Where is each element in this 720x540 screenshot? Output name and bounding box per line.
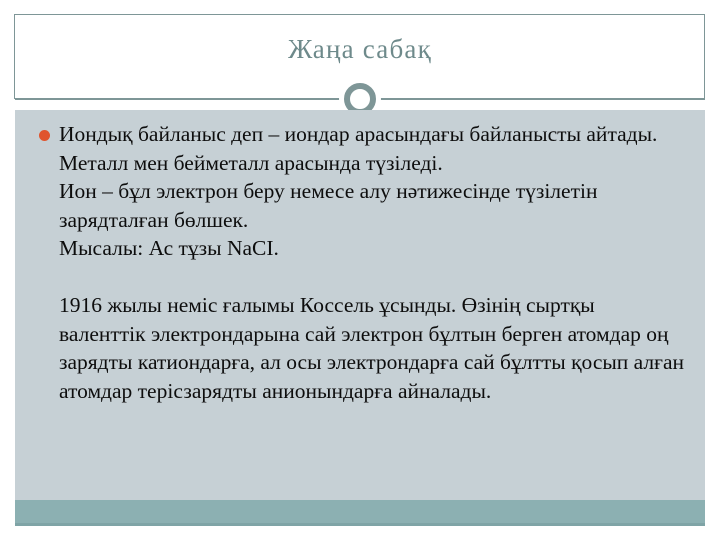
footer-accent-bar-shade (15, 523, 705, 526)
bullet-list-item: Иондық байланыс деп – иондар арасындағы … (37, 120, 685, 405)
presentation-slide: Жаңа сабақ Иондық байланыс деп – иондар … (0, 0, 720, 540)
body-content: Иондық байланыс деп – иондар арасындағы … (37, 120, 685, 405)
body-paragraph-2: 1916 жылы неміс ғалымы Коссель ұсынды. Ө… (59, 291, 685, 405)
bullet-dot-icon (39, 130, 50, 141)
slide-title: Жаңа сабақ (14, 32, 706, 66)
slide-body-panel: Иондық байланыс деп – иондар арасындағы … (15, 110, 705, 500)
body-paragraph-1: Иондық байланыс деп – иондар арасындағы … (59, 120, 685, 263)
